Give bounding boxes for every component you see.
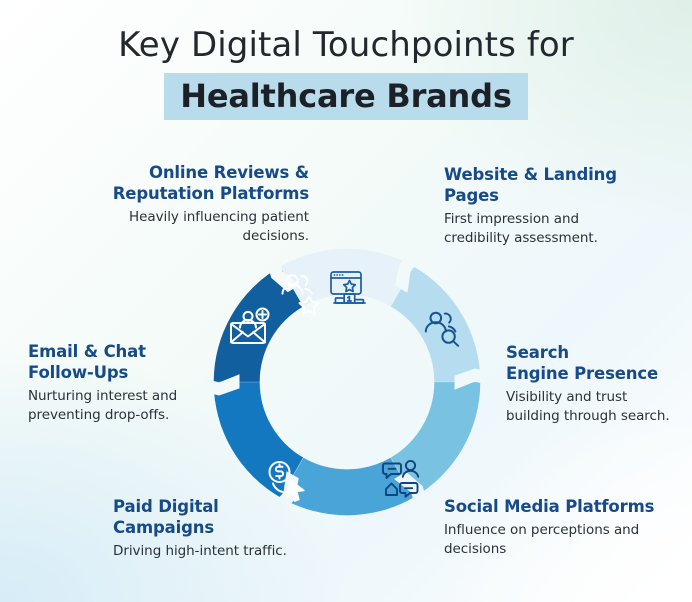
title-line-1: Key Digital Touchpoints for <box>0 24 692 66</box>
title-line-2-highlight: Healthcare Brands <box>164 73 527 120</box>
label-website-desc: First impression and credibility assessm… <box>444 210 649 248</box>
label-email: Email & Chat Follow-Ups Nurturing intere… <box>28 341 208 425</box>
label-email-desc: Nurturing interest and preventing drop-o… <box>28 387 208 425</box>
label-social-media-title: Social Media Platforms <box>444 496 659 517</box>
label-website-title-line1: Website & Landing <box>444 165 617 184</box>
title-highlight-row: Healthcare Brands <box>0 73 692 120</box>
label-website: Website & Landing Pages First impression… <box>444 164 649 248</box>
infographic-stage: Key Digital Touchpoints for Healthcare B… <box>0 0 692 602</box>
label-website-title: Website & Landing Pages <box>444 164 649 206</box>
label-search-title-line1: Search <box>506 343 569 362</box>
label-email-title-line1: Email & Chat <box>28 342 146 361</box>
label-website-title-line2: Pages <box>444 186 499 205</box>
label-online-reviews-desc: Heavily influencing patient decisions. <box>94 208 309 246</box>
page-title: Key Digital Touchpoints for Healthcare B… <box>0 24 692 120</box>
label-search-title: Search Engine Presence <box>506 342 676 384</box>
donut-chart <box>207 242 487 522</box>
label-paid-digital-title-line1: Paid Digital <box>113 497 219 516</box>
label-email-title-line2: Follow-Ups <box>28 363 128 382</box>
label-social-media-desc: Influence on perceptions and decisions <box>444 521 659 559</box>
label-email-title: Email & Chat Follow-Ups <box>28 341 208 383</box>
label-search-desc: Visibility and trust building through se… <box>506 388 676 426</box>
label-paid-digital: Paid Digital Campaigns Driving high-inte… <box>113 496 313 561</box>
label-online-reviews: Online Reviews & Reputation Platforms He… <box>94 162 309 246</box>
label-online-reviews-title-line2: Reputation Platforms <box>113 184 309 203</box>
label-paid-digital-title-line2: Campaigns <box>113 518 214 537</box>
label-paid-digital-desc: Driving high-intent traffic. <box>113 542 313 561</box>
label-social-media: Social Media Platforms Influence on perc… <box>444 496 659 559</box>
label-search-title-line2: Engine Presence <box>506 364 658 383</box>
label-online-reviews-title-line1: Online Reviews & <box>149 163 309 182</box>
label-online-reviews-title: Online Reviews & Reputation Platforms <box>94 162 309 204</box>
label-paid-digital-title: Paid Digital Campaigns <box>113 496 313 538</box>
label-search: Search Engine Presence Visibility and tr… <box>506 342 676 426</box>
